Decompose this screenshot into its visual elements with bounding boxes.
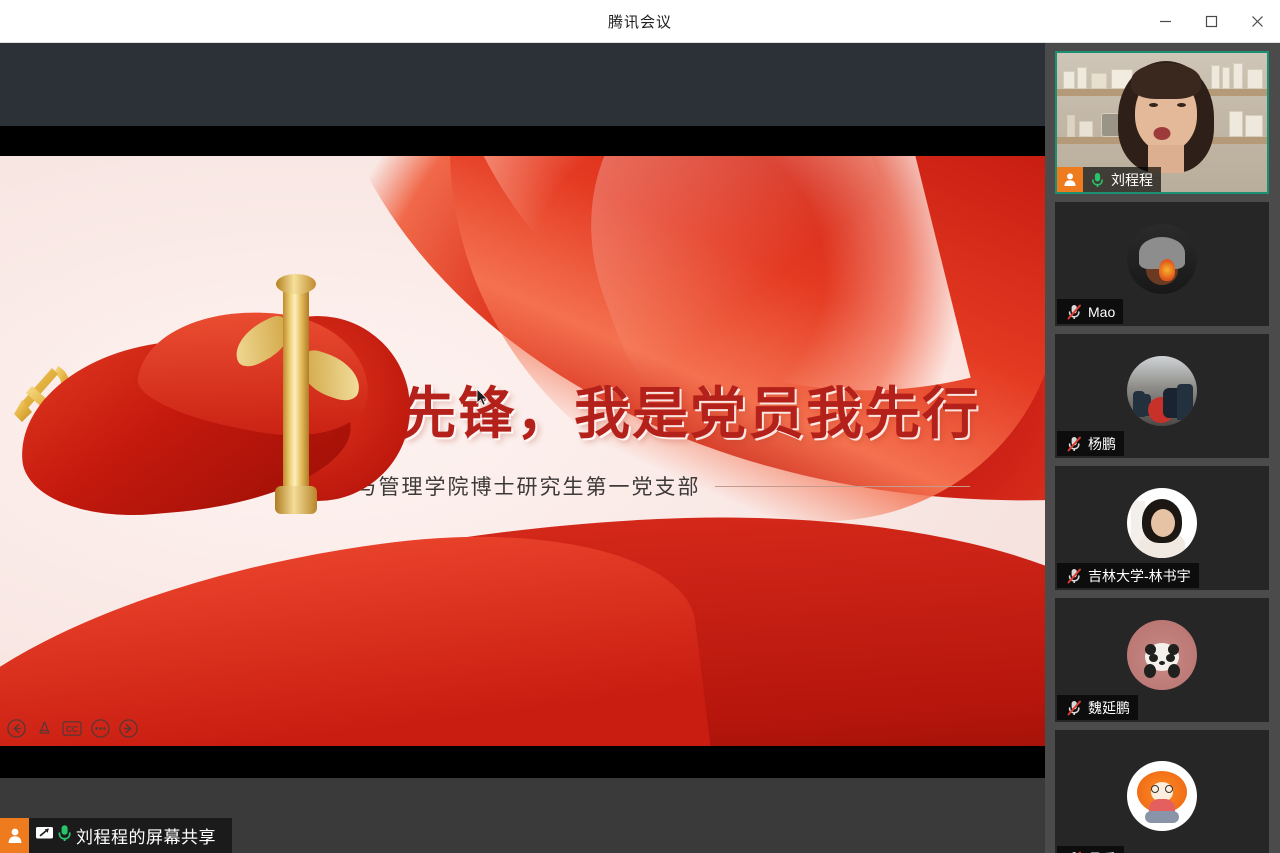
maximize-button[interactable] — [1188, 0, 1234, 43]
captions-button[interactable]: CC — [62, 718, 82, 738]
host-person-icon — [1057, 167, 1083, 192]
pen-tool-button[interactable] — [34, 718, 54, 738]
huabiao-base — [275, 486, 317, 514]
shared-screen-stage[interactable]: 勇战疫情做先锋，我是党员我先行 商学与管理学院博士研究生第一党支部 世界人民大团… — [0, 43, 1045, 853]
mic-muted-icon — [1063, 304, 1085, 320]
close-button[interactable] — [1234, 0, 1280, 43]
participant-tile-3[interactable]: 吉林大学-林书宇 — [1055, 466, 1269, 590]
participant-avatar-4 — [1127, 620, 1197, 690]
participant-avatar-2 — [1127, 356, 1197, 426]
participant-tile-0[interactable]: 刘程程 — [1055, 51, 1269, 194]
presentation-slide: 勇战疫情做先锋，我是党员我先行 商学与管理学院博士研究生第一党支部 世界人民大团… — [0, 156, 1045, 746]
minimize-button[interactable] — [1142, 0, 1188, 43]
previous-slide-button[interactable] — [6, 718, 26, 738]
share-status-icons — [29, 824, 76, 847]
powerpoint-presenter-toolbar[interactable]: CC — [6, 718, 138, 738]
window-title-bar: 腾讯会议 — [0, 0, 1280, 43]
participant-name-1: Mao — [1088, 304, 1115, 320]
participant-name-4: 魏延鹏 — [1088, 698, 1130, 718]
participant-name-0: 刘程程 — [1111, 170, 1153, 190]
participant-tile-4[interactable]: 魏延鹏 — [1055, 598, 1269, 722]
participant-avatar-3 — [1127, 488, 1197, 558]
letterbox-top-gray — [0, 43, 1045, 126]
participant-tile-1[interactable]: Mao — [1055, 202, 1269, 326]
participant-nametag-0: 刘程程 — [1057, 167, 1161, 192]
screen-share-icon — [35, 825, 54, 847]
participant-avatar-5 — [1127, 761, 1197, 831]
participant-avatar-1 — [1127, 224, 1197, 294]
huabiao-cap — [276, 274, 316, 294]
participant-tile-2[interactable]: 杨鹏 — [1055, 334, 1269, 458]
mic-muted-icon — [1063, 700, 1085, 716]
participant-nametag-4: 魏延鹏 — [1057, 695, 1138, 720]
mic-on-icon — [57, 824, 72, 847]
more-options-button[interactable] — [90, 718, 110, 738]
svg-text:CC: CC — [66, 723, 78, 733]
participant-nametag-1: Mao — [1057, 299, 1123, 324]
participant-nametag-3: 吉林大学-林书宇 — [1057, 563, 1199, 588]
share-label: 刘程程的屏幕共享 — [76, 823, 222, 848]
participant-name-3: 吉林大学-林书宇 — [1088, 566, 1191, 586]
next-slide-button[interactable] — [118, 718, 138, 738]
letterbox-bottom-black — [0, 746, 1045, 778]
huabiao-column — [283, 284, 309, 514]
participant-nametag-2: 杨鹏 — [1057, 431, 1124, 456]
participant-nametag-5: 孟乔 — [1057, 846, 1124, 853]
subtitle-rule-right — [715, 486, 971, 487]
window-controls — [1142, 0, 1280, 43]
window-title: 腾讯会议 — [608, 11, 672, 32]
host-person-icon — [0, 818, 29, 853]
mic-on-icon — [1086, 172, 1108, 188]
mouse-cursor-icon — [476, 388, 489, 412]
letterbox-top-black — [0, 126, 1045, 156]
screen-share-status-bar: 刘程程的屏幕共享 — [0, 818, 232, 853]
participant-name-2: 杨鹏 — [1088, 434, 1116, 454]
participant-name-5: 孟乔 — [1088, 849, 1116, 853]
participant-tile-5[interactable]: 孟乔 — [1055, 730, 1269, 853]
mic-muted-icon — [1063, 568, 1085, 584]
participant-panel[interactable]: 刘程程 Mao — [1045, 43, 1280, 853]
mic-muted-icon — [1063, 436, 1085, 452]
